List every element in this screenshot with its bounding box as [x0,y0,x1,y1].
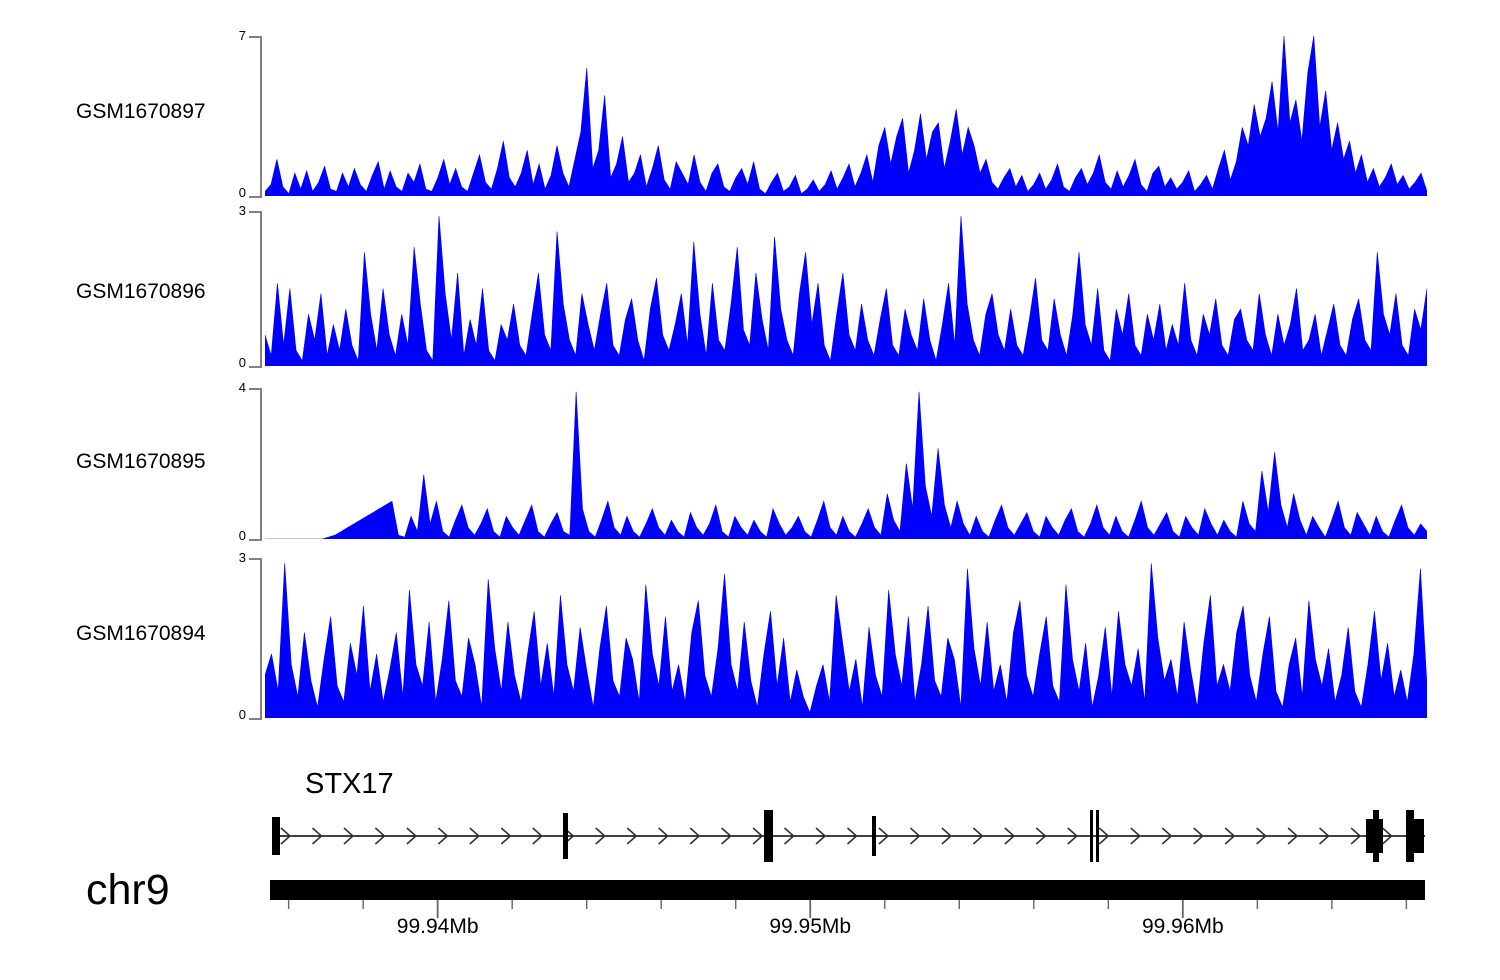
ruler-tick-label: 99.94Mb [397,915,479,939]
track-3-axis-bracket [248,388,264,541]
coverage-area-GSM1670894 [265,563,1427,718]
track-1-axis-bracket [248,36,264,198]
exon-block [1373,810,1379,862]
track-4-axis-max: 3 [228,550,246,565]
exon-block [764,810,773,862]
track-4-axis-min: 0 [228,707,246,722]
exon-block [1096,810,1099,862]
chromosome-ruler[interactable] [265,880,1435,920]
track-1-axis-max: 7 [228,28,246,43]
track-3-plot[interactable] [265,388,1427,539]
exon-block [1410,819,1424,853]
track-4-plot[interactable] [265,558,1427,718]
track-label-gsm1670896: GSM1670896 [76,280,206,304]
coverage-area-GSM1670897 [265,36,1427,196]
genome-browser-view: GSM1670897 7 0 GSM1670896 3 0 GSM1670895… [0,0,1500,980]
ruler-tick-label: 99.96Mb [1142,915,1224,939]
track-2-plot[interactable] [265,211,1427,366]
track-1-plot[interactable] [265,36,1427,196]
track-2-axis-max: 3 [228,203,246,218]
ruler-tick-label: 99.95Mb [769,915,851,939]
track-4-axis-bracket [248,558,264,720]
track-3-axis-min: 0 [228,528,246,543]
chromosome-label: chr9 [86,866,170,915]
coverage-area-GSM1670896 [265,216,1427,366]
exon-block [272,817,280,855]
track-label-gsm1670895: GSM1670895 [76,450,206,474]
track-label-gsm1670894: GSM1670894 [76,622,206,646]
track-3-axis-max: 4 [228,380,246,395]
track-label-gsm1670897: GSM1670897 [76,100,206,124]
exon-block [872,816,876,856]
chromosome-bar [270,880,1425,900]
exon-block [563,813,568,859]
track-1-axis-min: 0 [228,185,246,200]
exon-block [1090,810,1093,862]
coverage-area-GSM1670895 [265,392,1427,539]
gene-model-stx17[interactable] [265,805,1435,867]
track-2-axis-min: 0 [228,355,246,370]
track-2-axis-bracket [248,211,264,368]
gene-name-label: STX17 [305,768,394,801]
